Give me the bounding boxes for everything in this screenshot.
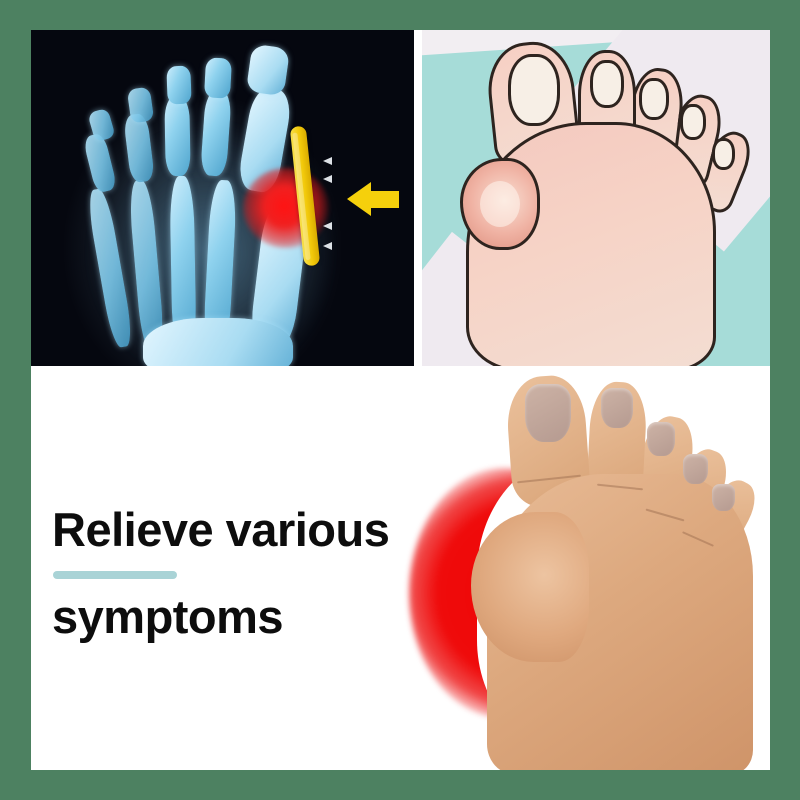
xray-direction-arrow-icon xyxy=(347,182,399,216)
xray-pressure-arrow-icon xyxy=(323,242,332,250)
illustration-panel xyxy=(422,30,770,366)
photo-toenail-4 xyxy=(683,454,708,484)
xray-panel xyxy=(31,30,414,366)
photo-toenail-3 xyxy=(647,422,675,456)
xray-pressure-arrow-icon xyxy=(323,175,332,183)
xray-bone-distal-2 xyxy=(204,57,232,98)
xray-bone-phalanx-3 xyxy=(164,96,190,176)
illustration-toenail-4 xyxy=(680,104,706,140)
photo-toenail-1 xyxy=(525,384,571,442)
foot-photo xyxy=(391,366,770,770)
photo-bunion-bump xyxy=(471,512,589,662)
photo-toenail-5 xyxy=(712,484,735,511)
top-image-row xyxy=(31,30,770,366)
poster-content-area: Relieve various symptoms xyxy=(31,30,770,770)
xray-bone-distal-3 xyxy=(166,66,191,105)
headline-section: Relieve various symptoms xyxy=(31,366,770,770)
headline-divider-rule xyxy=(53,571,177,579)
illustration-toenail-2 xyxy=(590,60,624,108)
arrow-shaft xyxy=(367,191,399,208)
xray-bone-tarsals xyxy=(143,318,293,366)
xray-pressure-arrow-icon xyxy=(323,157,332,165)
illustration-foot-graphic xyxy=(456,38,746,366)
arrow-head xyxy=(347,182,371,216)
photo-toenail-2 xyxy=(601,388,633,428)
photo-foot-graphic xyxy=(461,370,761,770)
illustration-toenail-1 xyxy=(508,54,560,126)
xray-pressure-arrow-icon xyxy=(323,222,332,230)
illustration-toenail-3 xyxy=(639,78,669,120)
illustration-toenail-5 xyxy=(712,138,735,170)
illustration-bunion-bump xyxy=(460,158,540,250)
product-poster: Relieve various symptoms xyxy=(0,0,800,800)
